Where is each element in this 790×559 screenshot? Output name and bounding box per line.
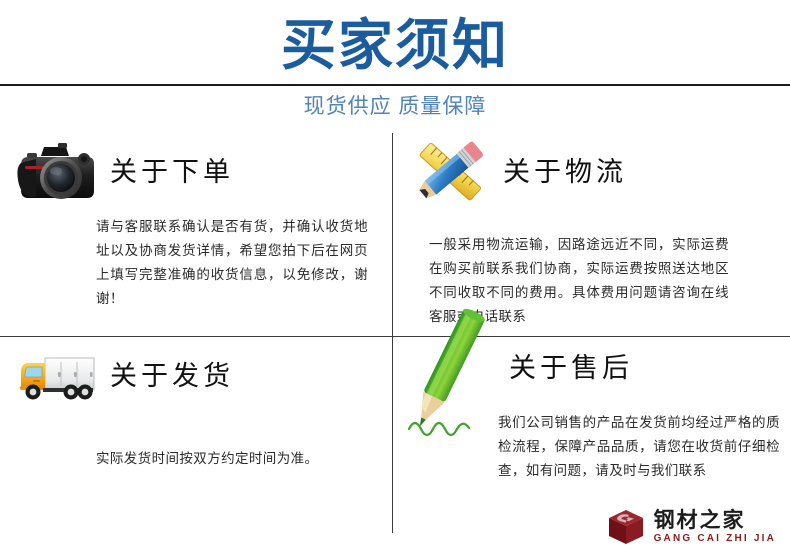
section-body-text: 实际发货时间按双方约定时间为准。 (96, 447, 376, 471)
section-title: 关于下单 (110, 155, 234, 189)
section-about-order: 关于下单 请与客服联系确认是否有货，并确认收货地址以及协商发货详情，希望您拍下后… (0, 133, 392, 336)
section-body-text: 我们公司销售的产品在发货前均经过严格的质检流程，保障产品品质，请您在收货前仔细检… (498, 411, 780, 483)
page-title: 买家须知 (0, 6, 790, 84)
brand-logo: 钢材之家 GANG CAI ZHI JIA (606, 506, 776, 548)
section-about-shipping: 关于发货 实际发货时间按双方约定时间为准。 (0, 337, 392, 540)
green-pencil-icon (399, 301, 499, 451)
page-header: 买家须知 现货供应 质量保障 (0, 0, 790, 133)
section-header: 关于售后 (393, 337, 785, 415)
section-title: 关于发货 (110, 359, 234, 393)
logo-name-cn: 钢材之家 (654, 509, 776, 532)
ruler-pencil-icon (407, 135, 493, 209)
page-subtitle: 现货供应 质量保障 (0, 92, 790, 122)
section-body-text: 请与客服联系确认是否有货，并确认收货地址以及协商发货详情，希望您拍下后在网页上填… (96, 215, 368, 311)
header-divider-line (0, 84, 790, 86)
camera-icon (14, 135, 100, 209)
logo-text-block: 钢材之家 GANG CAI ZHI JIA (654, 509, 776, 545)
section-title: 关于售后 (509, 351, 633, 385)
notice-grid: 关于下单 请与客服联系确认是否有货，并确认收货地址以及协商发货详情，希望您拍下后… (0, 133, 790, 533)
section-header: 关于发货 (0, 337, 392, 415)
section-header: 关于物流 (393, 133, 785, 211)
section-header: 关于下单 (0, 133, 392, 211)
logo-name-en: GANG CAI ZHI JIA (654, 532, 776, 545)
section-title: 关于物流 (503, 155, 627, 189)
cube-g-logo-icon (606, 507, 646, 547)
truck-icon (14, 339, 100, 413)
